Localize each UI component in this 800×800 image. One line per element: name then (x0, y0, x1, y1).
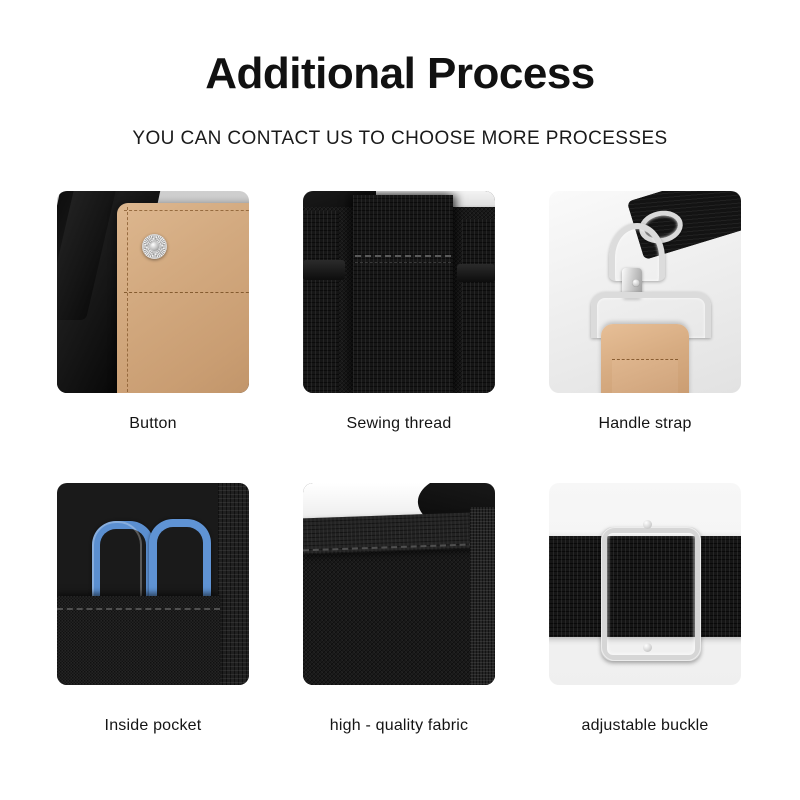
process-item-caption: Button (57, 415, 249, 433)
photo-leather-snap-button[interactable] (57, 191, 249, 393)
process-item-caption: adjustable buckle (549, 717, 741, 735)
photo-handle-strap[interactable] (549, 191, 741, 393)
clasp-rivet-icon (632, 279, 640, 287)
process-item-button[interactable]: Button (57, 191, 249, 393)
process-item-sewing-thread[interactable]: Sewing thread (303, 191, 495, 393)
infographic-page: Additional Process YOU CAN CONTACT US TO… (0, 0, 800, 800)
process-item-caption: Handle strap (549, 415, 741, 433)
process-item-inside-pocket[interactable]: Inside pocket (57, 483, 249, 685)
canvas-side-panel (218, 483, 249, 685)
canvas-main-panel (303, 550, 495, 685)
process-item-handle-strap[interactable]: Handle strap (549, 191, 741, 393)
process-item-caption: Inside pocket (57, 717, 249, 735)
process-grid: Button Sewing thread (57, 191, 745, 775)
stitch-line-top (124, 210, 249, 211)
stitch-line-vertical (127, 207, 128, 393)
buckle-nub-bottom (643, 643, 652, 652)
webbing-strap-left (303, 211, 339, 393)
photo-adjustable-buckle[interactable] (549, 483, 741, 685)
photo-inside-pocket[interactable] (57, 483, 249, 685)
canvas-edge-panel (470, 507, 495, 685)
photo-sewing-thread[interactable] (303, 191, 495, 393)
webbing-strap-center (353, 195, 453, 393)
stitch-line-patch (612, 359, 677, 360)
stitch-line-pocket (57, 608, 220, 610)
photo-fabric-texture[interactable] (303, 483, 495, 685)
flap-right (457, 264, 495, 282)
stitch-line-middle (124, 292, 249, 293)
leather-patch (612, 359, 677, 393)
silver-slider-buckle-icon (601, 527, 701, 660)
page-subtitle: YOU CAN CONTACT US TO CHOOSE MORE PROCES… (0, 129, 800, 148)
process-row: Inside pocket high - quality fabric (57, 483, 745, 775)
process-item-adjustable-buckle[interactable]: adjustable buckle (549, 483, 741, 685)
page-title: Additional Process (0, 52, 800, 96)
process-item-fabric[interactable]: high - quality fabric (303, 483, 495, 685)
webbing-strap-right (462, 219, 495, 393)
tan-leather-panel (117, 203, 249, 393)
stitch-line-primary (355, 255, 451, 257)
stitch-line-secondary (355, 262, 451, 263)
flap-left (303, 260, 345, 280)
process-item-caption: Sewing thread (303, 415, 495, 433)
process-row: Button Sewing thread (57, 191, 745, 483)
process-item-caption: high - quality fabric (303, 717, 495, 735)
